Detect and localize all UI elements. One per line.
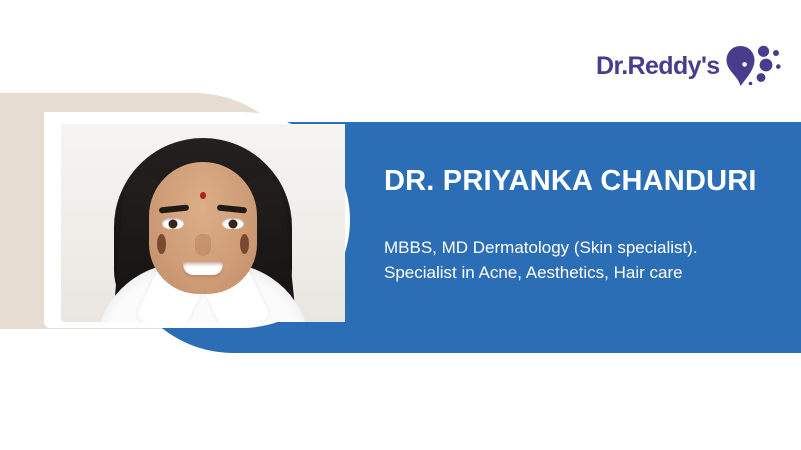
portrait-ear-right (240, 234, 249, 254)
teardrop-cluster-icon (726, 44, 782, 88)
doctor-profile-banner: DR. PRIYANKA CHANDURI MBBS, MD Dermatolo… (0, 0, 801, 450)
doctor-info-text: DR. PRIYANKA CHANDURI MBBS, MD Dermatolo… (384, 166, 784, 285)
brand-wordmark: Dr.Reddy's (596, 54, 720, 79)
portrait-ear-left (157, 234, 166, 254)
doctor-name: DR. PRIYANKA CHANDURI (384, 166, 784, 198)
portrait-photo-image (61, 124, 345, 322)
doctor-credentials-line-1: MBBS, MD Dermatology (Skin specialist). (384, 236, 784, 261)
portrait-bindi (200, 192, 206, 199)
portrait-eye-right (222, 218, 244, 229)
brand-logo: Dr.Reddy's (596, 44, 782, 88)
portrait-mouth (183, 262, 223, 275)
portrait-nose (195, 234, 211, 256)
portrait-eyebrow-right (217, 204, 247, 213)
portrait-face (149, 162, 257, 294)
portrait-pupil-left (169, 219, 178, 228)
portrait-eyebrow-left (159, 204, 189, 213)
portrait-eye-left (162, 218, 184, 229)
doctor-portrait (61, 124, 345, 322)
portrait-pupil-right (229, 219, 238, 228)
doctor-credentials-line-2: Specialist in Acne, Aesthetics, Hair car… (384, 261, 784, 286)
doctor-credentials: MBBS, MD Dermatology (Skin specialist). … (384, 236, 784, 285)
